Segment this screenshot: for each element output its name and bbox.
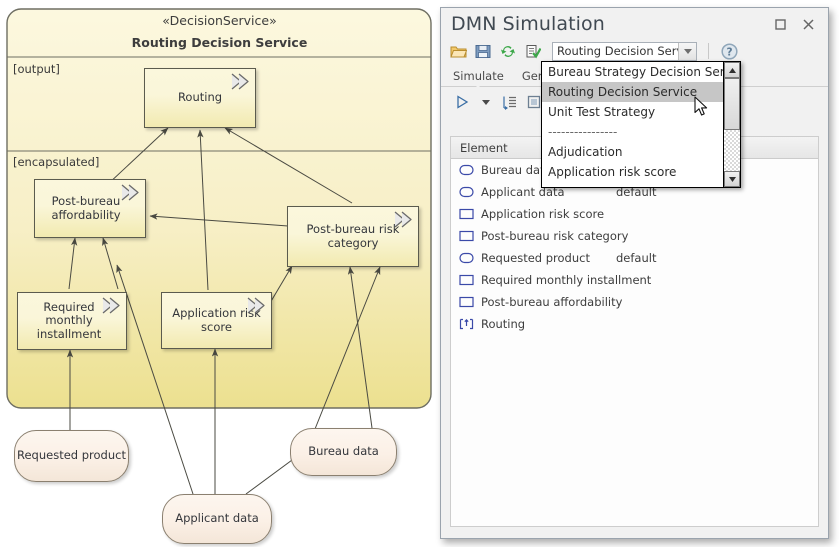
table-row[interactable]: Application risk score (451, 203, 818, 225)
input-data-icon (459, 183, 474, 202)
element-name: Application risk score (481, 207, 604, 221)
decision-chevron-icon (119, 182, 141, 204)
refresh-icon[interactable] (499, 42, 517, 60)
close-icon[interactable] (801, 17, 816, 32)
dropdown-option[interactable]: Application risk score (542, 162, 723, 182)
compartment-label-output: [output] (13, 62, 60, 76)
scroll-down-button[interactable] (724, 171, 740, 187)
decision-chevron-icon (245, 295, 267, 317)
input-data-node-requested-product[interactable]: Requested product (14, 430, 129, 482)
value-cell[interactable]: default (616, 251, 711, 265)
element-table[interactable]: Element Bureau dataApplicant datadefault… (450, 136, 819, 527)
chevron-down-icon[interactable] (678, 43, 696, 60)
dropdown-option[interactable]: Bureau Strategy Decision Service (542, 62, 723, 82)
decision-chevron-icon (392, 209, 414, 231)
maximize-icon[interactable] (773, 17, 788, 32)
decision-service-icon (459, 315, 474, 334)
element-cell[interactable]: Routing (451, 315, 616, 334)
open-folder-icon[interactable] (449, 42, 467, 60)
toolbar-separator (708, 43, 709, 59)
scroll-up-button[interactable] (724, 62, 740, 78)
decision-icon (459, 205, 474, 224)
compartment-label-encapsulated: [encapsulated] (13, 155, 99, 169)
decision-label: Routing (178, 91, 222, 104)
scrollbar-thumb[interactable] (724, 78, 740, 130)
element-name: Post-bureau risk category (481, 229, 628, 243)
decision-icon (459, 271, 474, 290)
element-cell[interactable]: Post-bureau affordability (451, 293, 616, 312)
element-cell[interactable]: Required monthly installment (451, 271, 616, 290)
dropdown-option[interactable]: Adjudication (542, 142, 723, 162)
decision-icon (459, 227, 474, 246)
table-row[interactable]: Post-bureau affordability (451, 291, 818, 313)
run-icon[interactable] (453, 93, 471, 111)
tab-simulate[interactable]: Simulate (451, 69, 506, 86)
decision-node-application-risk-score[interactable]: Application risk score (161, 292, 272, 349)
decision-icon (459, 293, 474, 312)
dropdown-separator: ---------------- (542, 122, 723, 142)
input-data-label: Applicant data (175, 512, 259, 525)
dmn-diagram-canvas[interactable]: «DecisionService» Routing Decision Servi… (0, 0, 439, 547)
input-data-node-applicant-data[interactable]: Applicant data (162, 494, 272, 544)
window-controls (773, 17, 822, 32)
dmn-simulation-window: DMN Simulation (440, 7, 829, 539)
help-icon[interactable]: ? (720, 42, 738, 60)
decision-node-post-bureau-affordability[interactable]: Post-bureau affordability (34, 179, 146, 238)
dropdown-option[interactable]: Unit Test Strategy (542, 102, 723, 122)
input-data-icon (459, 249, 474, 268)
decision-service-dropdown-popup[interactable]: Bureau Strategy Decision ServiceRouting … (541, 61, 741, 188)
input-data-label: Bureau data (308, 445, 379, 458)
validate-icon[interactable] (524, 42, 542, 60)
table-row[interactable]: Routing (451, 313, 818, 335)
decision-node-required-monthly-installment[interactable]: Required monthly installment (17, 292, 127, 350)
svg-text:?: ? (726, 46, 732, 58)
decision-service-combo[interactable]: Routing Decision Servic (552, 42, 697, 61)
decision-chevron-icon (229, 71, 251, 93)
input-data-label: Requested product (17, 449, 126, 462)
element-cell[interactable]: Post-bureau risk category (451, 227, 616, 246)
element-cell[interactable]: Application risk score (451, 205, 616, 224)
element-name: Requested product (481, 251, 590, 265)
table-row[interactable]: Required monthly installment (451, 269, 818, 291)
dropdown-scrollbar[interactable] (723, 62, 740, 187)
decision-node-routing[interactable]: Routing (144, 68, 256, 128)
input-data-icon (459, 161, 474, 180)
decision-chevron-icon (100, 295, 122, 317)
save-icon[interactable] (474, 42, 492, 60)
dropdown-option-list: Bureau Strategy Decision ServiceRouting … (542, 62, 723, 187)
input-data-node-bureau-data[interactable]: Bureau data (290, 428, 397, 476)
chevron-down-icon[interactable] (477, 93, 495, 111)
scrollbar-track[interactable] (724, 130, 740, 171)
table-row[interactable]: Post-bureau risk category (451, 225, 818, 247)
element-name: Routing (481, 317, 525, 331)
element-name: Post-bureau affordability (481, 295, 622, 309)
dropdown-option[interactable]: Routing Decision Service (542, 82, 723, 102)
element-cell[interactable]: Requested product (451, 249, 616, 268)
window-title: DMN Simulation (451, 13, 605, 35)
step-into-icon[interactable] (501, 93, 519, 111)
decision-node-post-bureau-risk-category[interactable]: Post-bureau risk category (287, 206, 419, 267)
combo-value: Routing Decision Servic (553, 44, 693, 58)
window-titlebar: DMN Simulation (441, 8, 828, 38)
table-row[interactable]: Requested productdefault (451, 247, 818, 269)
element-name: Required monthly installment (481, 273, 651, 287)
